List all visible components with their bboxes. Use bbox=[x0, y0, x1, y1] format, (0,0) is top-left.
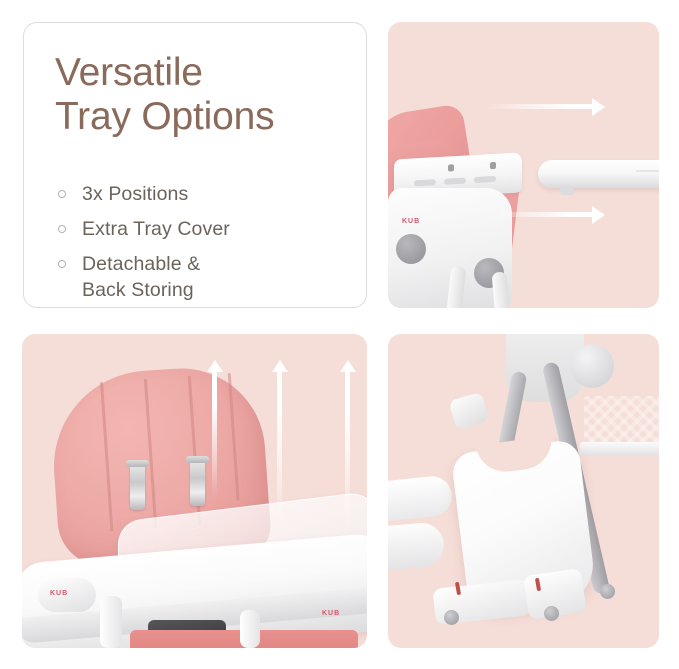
list-item-label: Detachable & Back Storing bbox=[82, 251, 200, 303]
leg-top-cap-shape bbox=[449, 392, 490, 430]
list-item-label: 3x Positions bbox=[82, 181, 188, 207]
tray-support-post-right bbox=[240, 610, 260, 648]
secondary-tray-peek-bottom bbox=[388, 521, 446, 575]
tray-back-storage-photo bbox=[388, 334, 659, 648]
tray-detaching-photo: KUB bbox=[388, 22, 659, 308]
cushion-tuft-4 bbox=[228, 373, 240, 501]
bullet-circle-icon bbox=[58, 225, 66, 233]
frame-pivot-hub bbox=[570, 344, 614, 388]
release-clip-left bbox=[455, 582, 461, 595]
headline-line-1: Versatile bbox=[55, 51, 203, 94]
cushion-tuft-1 bbox=[100, 382, 113, 532]
list-item: 3x Positions bbox=[58, 181, 358, 207]
list-item: Detachable & Back Storing bbox=[58, 251, 358, 303]
tray-cover-lifting-photo: KUB KUB bbox=[22, 334, 367, 648]
direction-arrow-up-1 bbox=[212, 370, 217, 496]
product-illustration-tray-detach: KUB bbox=[388, 22, 659, 308]
page-title: Versatile Tray Options bbox=[55, 51, 355, 139]
brand-logo: KUB bbox=[322, 610, 340, 617]
product-illustration-tray-cover: KUB KUB bbox=[22, 334, 367, 648]
bullet-circle-icon bbox=[58, 190, 66, 198]
storage-basket-shape bbox=[584, 396, 659, 448]
tray-seam-line bbox=[636, 170, 659, 172]
caster-wheel-right bbox=[544, 606, 559, 621]
brand-logo: KUB bbox=[402, 218, 420, 225]
list-item-label: Extra Tray Cover bbox=[82, 216, 230, 242]
tray-body-notch bbox=[476, 436, 555, 475]
product-illustration-tray-storage bbox=[388, 334, 659, 648]
feature-text-card: Versatile Tray Options 3x Positions Extr… bbox=[23, 22, 367, 308]
tray-latch-nub bbox=[560, 186, 574, 195]
armrest-slot-3 bbox=[474, 176, 496, 183]
tray-support-post bbox=[100, 596, 122, 648]
feature-list: 3x Positions Extra Tray Cover Detachable… bbox=[58, 181, 358, 312]
caster-wheel-left bbox=[444, 610, 459, 625]
direction-arrow-up-3 bbox=[345, 370, 350, 530]
direction-arrow-right-top bbox=[486, 104, 596, 109]
armrest-tab-1 bbox=[448, 164, 454, 171]
detached-tray-shape bbox=[538, 160, 659, 188]
bullet-circle-icon bbox=[58, 260, 66, 268]
armrest-slot-1 bbox=[414, 179, 436, 186]
cushion-tuft-2 bbox=[144, 379, 157, 529]
armrest-tab-2 bbox=[490, 162, 496, 169]
direction-arrow-right-bottom bbox=[496, 212, 596, 217]
armrest-slot-2 bbox=[444, 178, 466, 185]
direction-arrow-up-2 bbox=[277, 370, 282, 522]
headline-line-2: Tray Options bbox=[55, 95, 355, 139]
recline-knob-left bbox=[396, 234, 426, 264]
brand-logo-small: KUB bbox=[50, 590, 68, 597]
harness-buckle-right bbox=[190, 460, 205, 506]
infographic-canvas: Versatile Tray Options 3x Positions Extr… bbox=[0, 0, 679, 669]
harness-buckle-left bbox=[130, 464, 145, 510]
list-item-line-1: Detachable & bbox=[82, 253, 200, 275]
caster-wheel-rear bbox=[600, 584, 615, 599]
list-item: Extra Tray Cover bbox=[58, 216, 358, 242]
secondary-tray-peek-top bbox=[388, 474, 454, 525]
list-item-line-2: Back Storing bbox=[82, 277, 200, 303]
storage-basket-lip bbox=[580, 442, 659, 456]
